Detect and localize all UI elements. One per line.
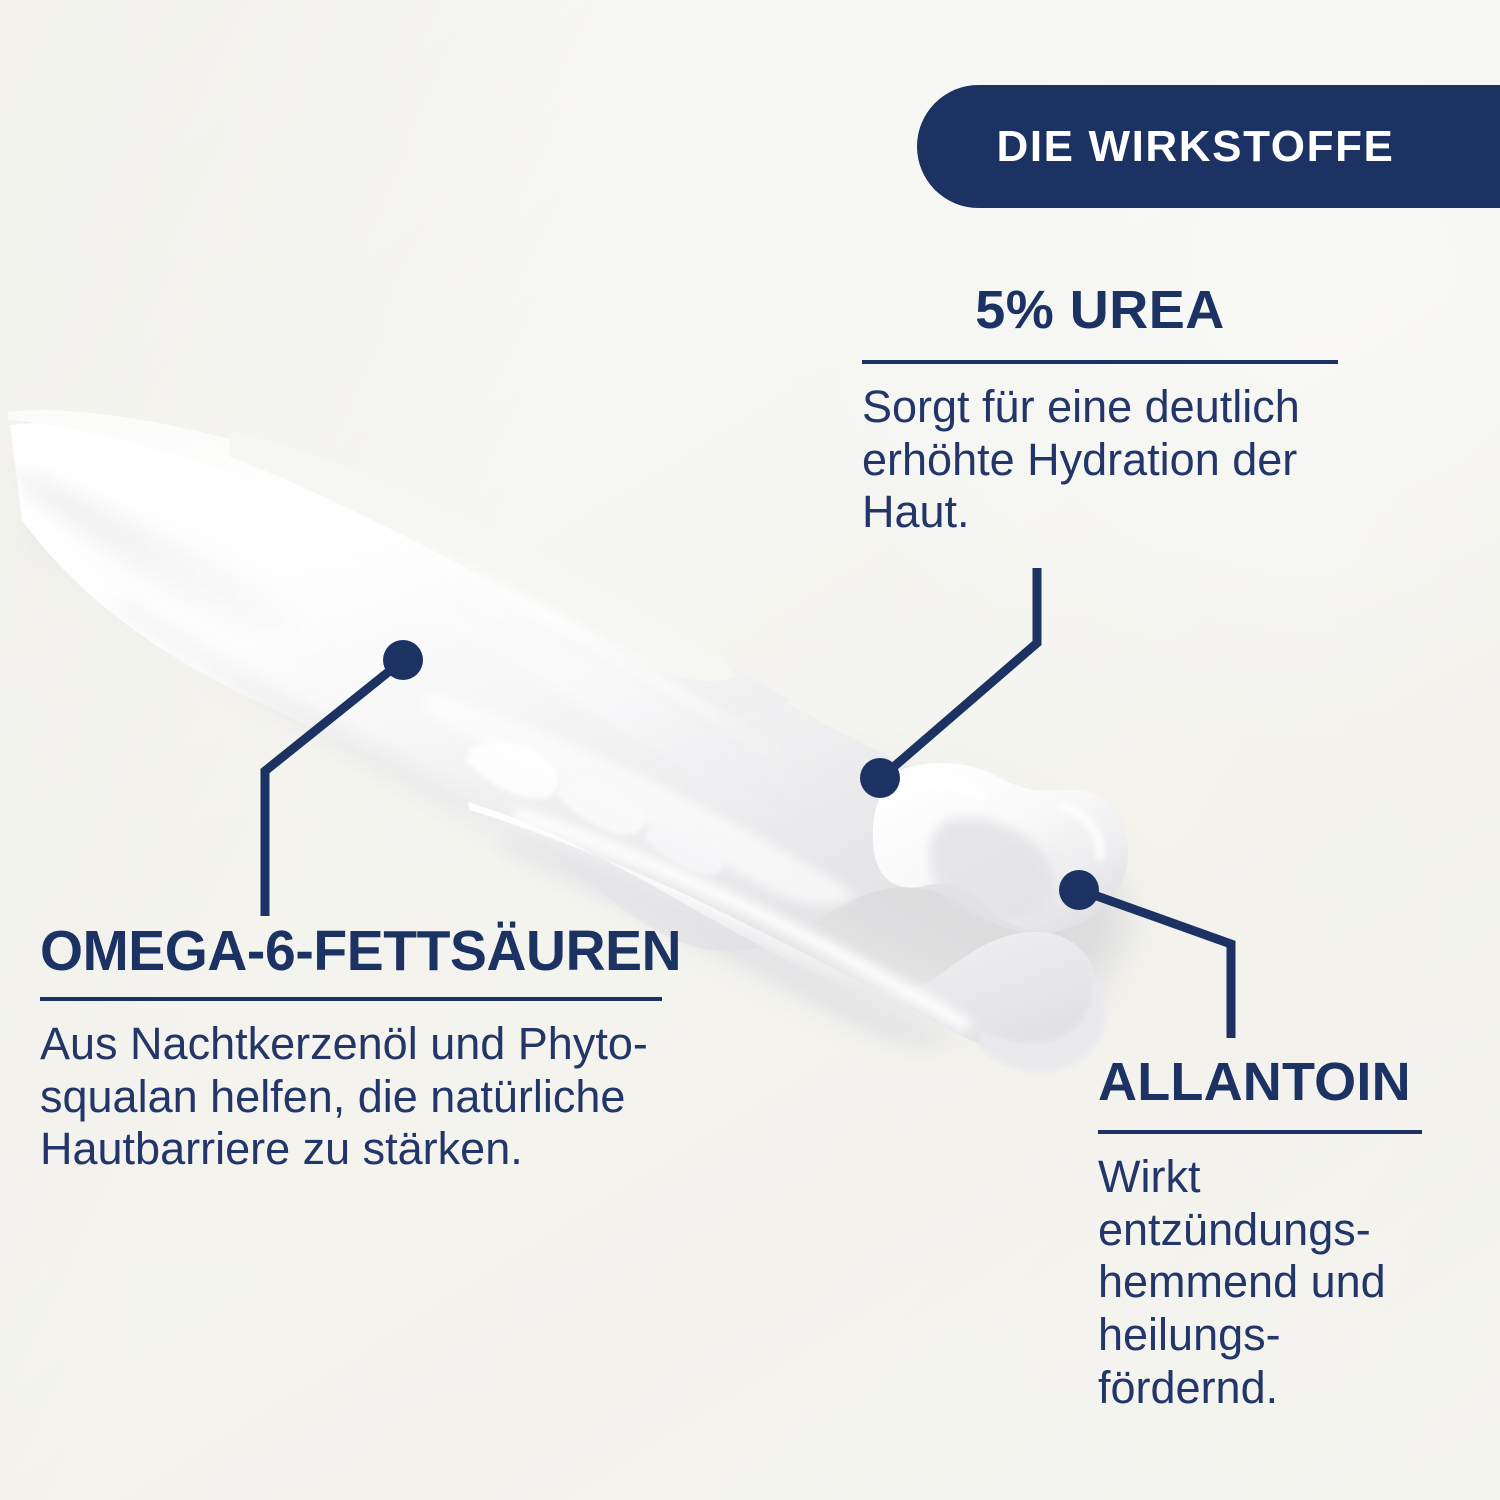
- callout-urea-divider: [862, 360, 1338, 364]
- callout-omega: OMEGA-6-FETTSÄUREN Aus Nachtkerzenöl und…: [40, 922, 662, 1176]
- callout-allantoin: ALLANTOIN Wirkt entzündungs-hemmend und …: [1098, 1055, 1422, 1414]
- header-banner-label: DIE WIRKSTOFFE: [996, 122, 1394, 172]
- callout-urea-title: 5% UREA: [862, 283, 1338, 338]
- callout-allantoin-divider: [1098, 1130, 1422, 1134]
- callout-urea: 5% UREA Sorgt für eine deutlich erhöhte …: [862, 283, 1338, 539]
- header-banner: DIE WIRKSTOFFE: [917, 85, 1500, 208]
- callout-urea-body: Sorgt für eine deutlich erhöhte Hydratio…: [862, 381, 1338, 539]
- callout-omega-title: OMEGA-6-FETTSÄUREN: [40, 922, 643, 980]
- callout-allantoin-body: Wirkt entzündungs-hemmend und heilungs-f…: [1098, 1151, 1422, 1414]
- callout-omega-body: Aus Nachtkerzenöl und Phyto-squalan helf…: [40, 1018, 662, 1176]
- callout-allantoin-title: ALLANTOIN: [1098, 1055, 1422, 1110]
- infographic-canvas: DIE WIRKSTOFFE 5% UREA Sorgt für eine de…: [0, 0, 1500, 1500]
- callout-omega-divider: [40, 997, 662, 1001]
